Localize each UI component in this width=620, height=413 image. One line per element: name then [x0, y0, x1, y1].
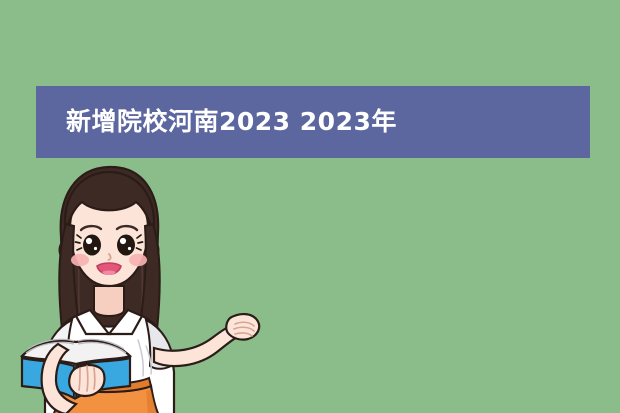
- blush-right: [129, 254, 147, 266]
- page-title: 新增院校河南2023 2023年: [66, 108, 397, 136]
- student-girl-illustration-svg: [14, 158, 264, 413]
- title-banner: 新增院校河南2023 2023年: [36, 86, 590, 158]
- screenshot-canvas: 新增院校河南2023 2023年: [0, 0, 620, 413]
- neck: [94, 286, 124, 316]
- blush-left: [71, 254, 89, 266]
- illustration-student-girl: [14, 158, 264, 413]
